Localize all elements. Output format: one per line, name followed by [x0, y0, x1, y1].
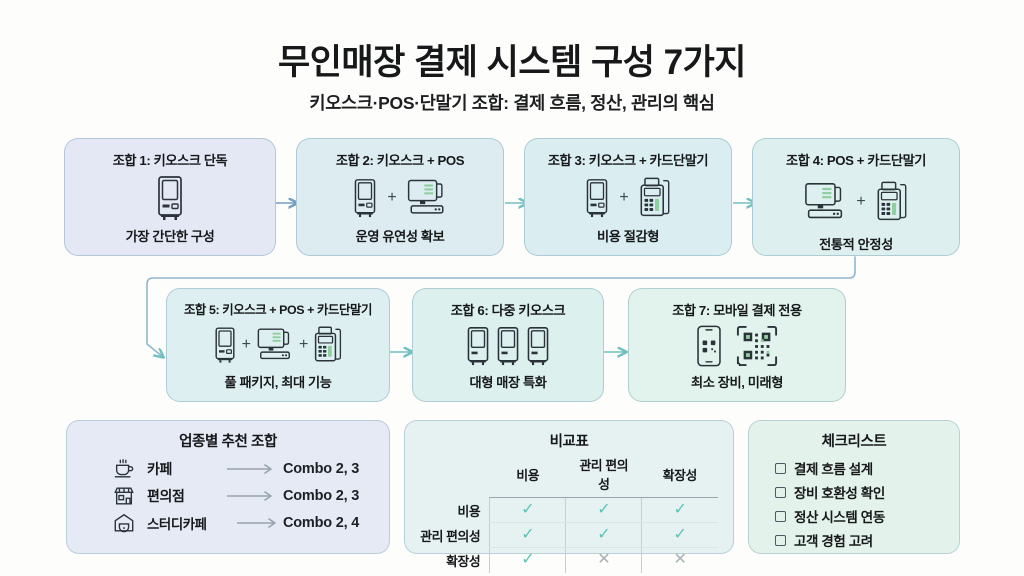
- industry-row: 스터디카페 Combo 2, 4: [67, 509, 389, 536]
- checkbox-icon[interactable]: [775, 463, 786, 474]
- combo-card-4-caption: 전통적 안정성: [819, 234, 893, 253]
- table-cell: ✓: [566, 498, 642, 523]
- checklist-panel-title: 체크리스트: [749, 430, 959, 451]
- combo-card-6-title: 조합 6: 다중 키오스크: [451, 300, 566, 319]
- table-row-header: 관리 편의성: [420, 523, 490, 548]
- combo-card-2-title: 조합 2: 키오스크 + POS: [336, 150, 464, 169]
- combo-card-2-caption: 운영 유연성 확보: [356, 226, 445, 245]
- combo-card-7-icons: [629, 319, 845, 372]
- table-cell: ✓: [642, 498, 718, 523]
- qr-code-icon: [736, 325, 778, 367]
- table-column-header: 확장성: [642, 455, 718, 498]
- combo-card-5[interactable]: 조합 5: 키오스크 + POS + 카드단말기 + +: [166, 288, 390, 402]
- table-header-row: 비용 관리 편의성 확장성: [420, 455, 718, 498]
- combo-card-3[interactable]: 조합 3: 키오스크 + 카드단말기 +: [524, 138, 732, 256]
- plus-symbol: +: [856, 194, 865, 210]
- combo-card-7-caption: 최소 장비, 미래형: [691, 372, 783, 391]
- combo-card-7[interactable]: 조합 7: 모바일 결제 전용: [628, 288, 846, 402]
- check-icon: ✓: [597, 501, 610, 518]
- combo-card-5-icons: + +: [167, 318, 389, 372]
- arrow-icon: [225, 490, 283, 502]
- check-icon: ✓: [521, 501, 534, 518]
- plus-symbol: +: [242, 337, 251, 353]
- table-row: 관리 편의성 ✓ ✓ ✓: [420, 523, 718, 548]
- combo-card-4-title: 조합 4: POS + 카드단말기: [786, 150, 926, 169]
- cross-icon: ✕: [674, 551, 687, 568]
- combo-card-3-caption: 비용 절감형: [597, 226, 659, 245]
- comparison-panel-title: 비교표: [405, 430, 733, 451]
- industry-label: 스터디카페: [139, 513, 235, 533]
- table-row-header: 확장성: [420, 548, 490, 573]
- table-cell: ✓: [490, 523, 566, 548]
- checklist-item-label: 장비 호환성 확인: [794, 482, 885, 502]
- kiosk-icon: [352, 177, 378, 219]
- table-row-header: 비용: [420, 498, 490, 523]
- combo-card-1-caption: 가장 간단한 구성: [126, 226, 215, 245]
- table-cell: ✓: [642, 523, 718, 548]
- arrow-icon: [225, 463, 283, 475]
- terminal-icon: [875, 181, 909, 223]
- combo-card-6-caption: 대형 매장 특화: [470, 372, 547, 391]
- combo-card-4-icons: +: [753, 169, 959, 234]
- kiosk-icon: [495, 326, 521, 366]
- table-column-header: 비용: [490, 455, 566, 498]
- coffee-cup-icon: [109, 458, 139, 480]
- table-row: 확장성 ✓ ✕ ✕: [420, 548, 718, 573]
- check-icon: ✓: [521, 551, 534, 568]
- plus-symbol: +: [387, 190, 396, 206]
- combo-card-6-icons: [413, 319, 603, 372]
- industry-row: 카페 Combo 2, 3: [67, 455, 389, 482]
- combo-card-4[interactable]: 조합 4: POS + 카드단말기 +: [752, 138, 960, 256]
- table-cell: ✓: [566, 523, 642, 548]
- checkbox-icon[interactable]: [775, 535, 786, 546]
- terminal-icon: [638, 177, 672, 219]
- checklist-item[interactable]: 장비 호환성 확인: [749, 480, 959, 504]
- checklist-item-label: 결제 흐름 설계: [794, 458, 873, 478]
- combo-card-1[interactable]: 조합 1: 키오스크 단독 가장 간단한 구성: [64, 138, 276, 256]
- arrow-icon: [235, 517, 283, 529]
- table-cell: ✓: [490, 498, 566, 523]
- plus-symbol: +: [299, 337, 308, 353]
- table-row: 비용 ✓ ✓ ✓: [420, 498, 718, 523]
- kiosk-icon: [525, 326, 551, 366]
- combo-card-2-icons: +: [297, 169, 503, 226]
- mobile-pay-icon: [696, 325, 722, 367]
- table-cell: ✕: [642, 548, 718, 573]
- terminal-icon: [313, 326, 343, 364]
- combo-card-1-title: 조합 1: 키오스크 단독: [113, 150, 228, 169]
- combo-card-2[interactable]: 조합 2: 키오스크 + POS + 운영 유연성 확보: [296, 138, 504, 256]
- industry-panel-title: 업종별 추천 조합: [67, 430, 389, 451]
- pos-icon: [406, 178, 448, 218]
- comparison-panel: 비교표 비용 관리 편의성 확장성 비용 ✓ ✓ ✓ 관리 편의성 ✓ ✓ ✓: [404, 420, 734, 554]
- checklist-item-label: 고객 경험 고려: [794, 530, 873, 550]
- industry-row: 편의점 Combo 2, 3: [67, 482, 389, 509]
- industry-combo: Combo 2, 3: [283, 488, 359, 504]
- kiosk-icon: [155, 175, 185, 221]
- combo-card-3-title: 조합 3: 키오스크 + 카드단말기: [548, 150, 708, 169]
- check-icon: ✓: [674, 501, 687, 518]
- cross-icon: ✕: [597, 551, 610, 568]
- table-column-header: 관리 편의성: [566, 455, 642, 498]
- table-cell: ✕: [566, 548, 642, 573]
- kiosk-icon: [584, 177, 610, 219]
- kiosk-icon: [465, 326, 491, 366]
- checklist-item[interactable]: 고객 경험 고려: [749, 528, 959, 552]
- study-cafe-icon: [109, 512, 139, 534]
- industry-label: 편의점: [139, 486, 225, 506]
- industry-panel: 업종별 추천 조합 카페 Combo 2: [66, 420, 390, 554]
- storefront-icon: [109, 485, 139, 507]
- table-corner-cell: [420, 455, 490, 498]
- combo-card-5-title: 조합 5: 키오스크 + POS + 카드단말기: [184, 300, 372, 318]
- kiosk-icon: [213, 326, 237, 364]
- checklist-panel: 체크리스트 결제 흐름 설계 장비 호환성 확인 정산 시스템 연동 고객 경험…: [748, 420, 960, 554]
- combo-card-3-icons: +: [525, 169, 731, 226]
- industry-combo: Combo 2, 4: [283, 515, 359, 531]
- pos-icon: [256, 327, 294, 363]
- checkbox-icon[interactable]: [775, 487, 786, 498]
- comparison-table: 비용 관리 편의성 확장성 비용 ✓ ✓ ✓ 관리 편의성 ✓ ✓ ✓ 확장성 …: [420, 455, 718, 573]
- combo-card-5-caption: 풀 패키지, 최대 기능: [225, 372, 332, 391]
- checklist-item-label: 정산 시스템 연동: [794, 506, 885, 526]
- check-icon: ✓: [521, 526, 534, 543]
- combo-card-1-icons: [65, 169, 275, 226]
- checklist-item[interactable]: 결제 흐름 설계: [749, 456, 959, 480]
- checklist-item[interactable]: 정산 시스템 연동: [749, 504, 959, 528]
- table-cell: ✓: [490, 548, 566, 573]
- combo-card-6[interactable]: 조합 6: 다중 키오스크 대형 매장 특화: [412, 288, 604, 402]
- industry-label: 카페: [139, 459, 225, 479]
- check-icon: ✓: [597, 526, 610, 543]
- plus-symbol: +: [619, 190, 628, 206]
- check-icon: ✓: [674, 526, 687, 543]
- industry-combo: Combo 2, 3: [283, 461, 359, 477]
- checkbox-icon[interactable]: [775, 511, 786, 522]
- pos-icon: [803, 182, 847, 222]
- combo-card-7-title: 조합 7: 모바일 결제 전용: [672, 300, 802, 319]
